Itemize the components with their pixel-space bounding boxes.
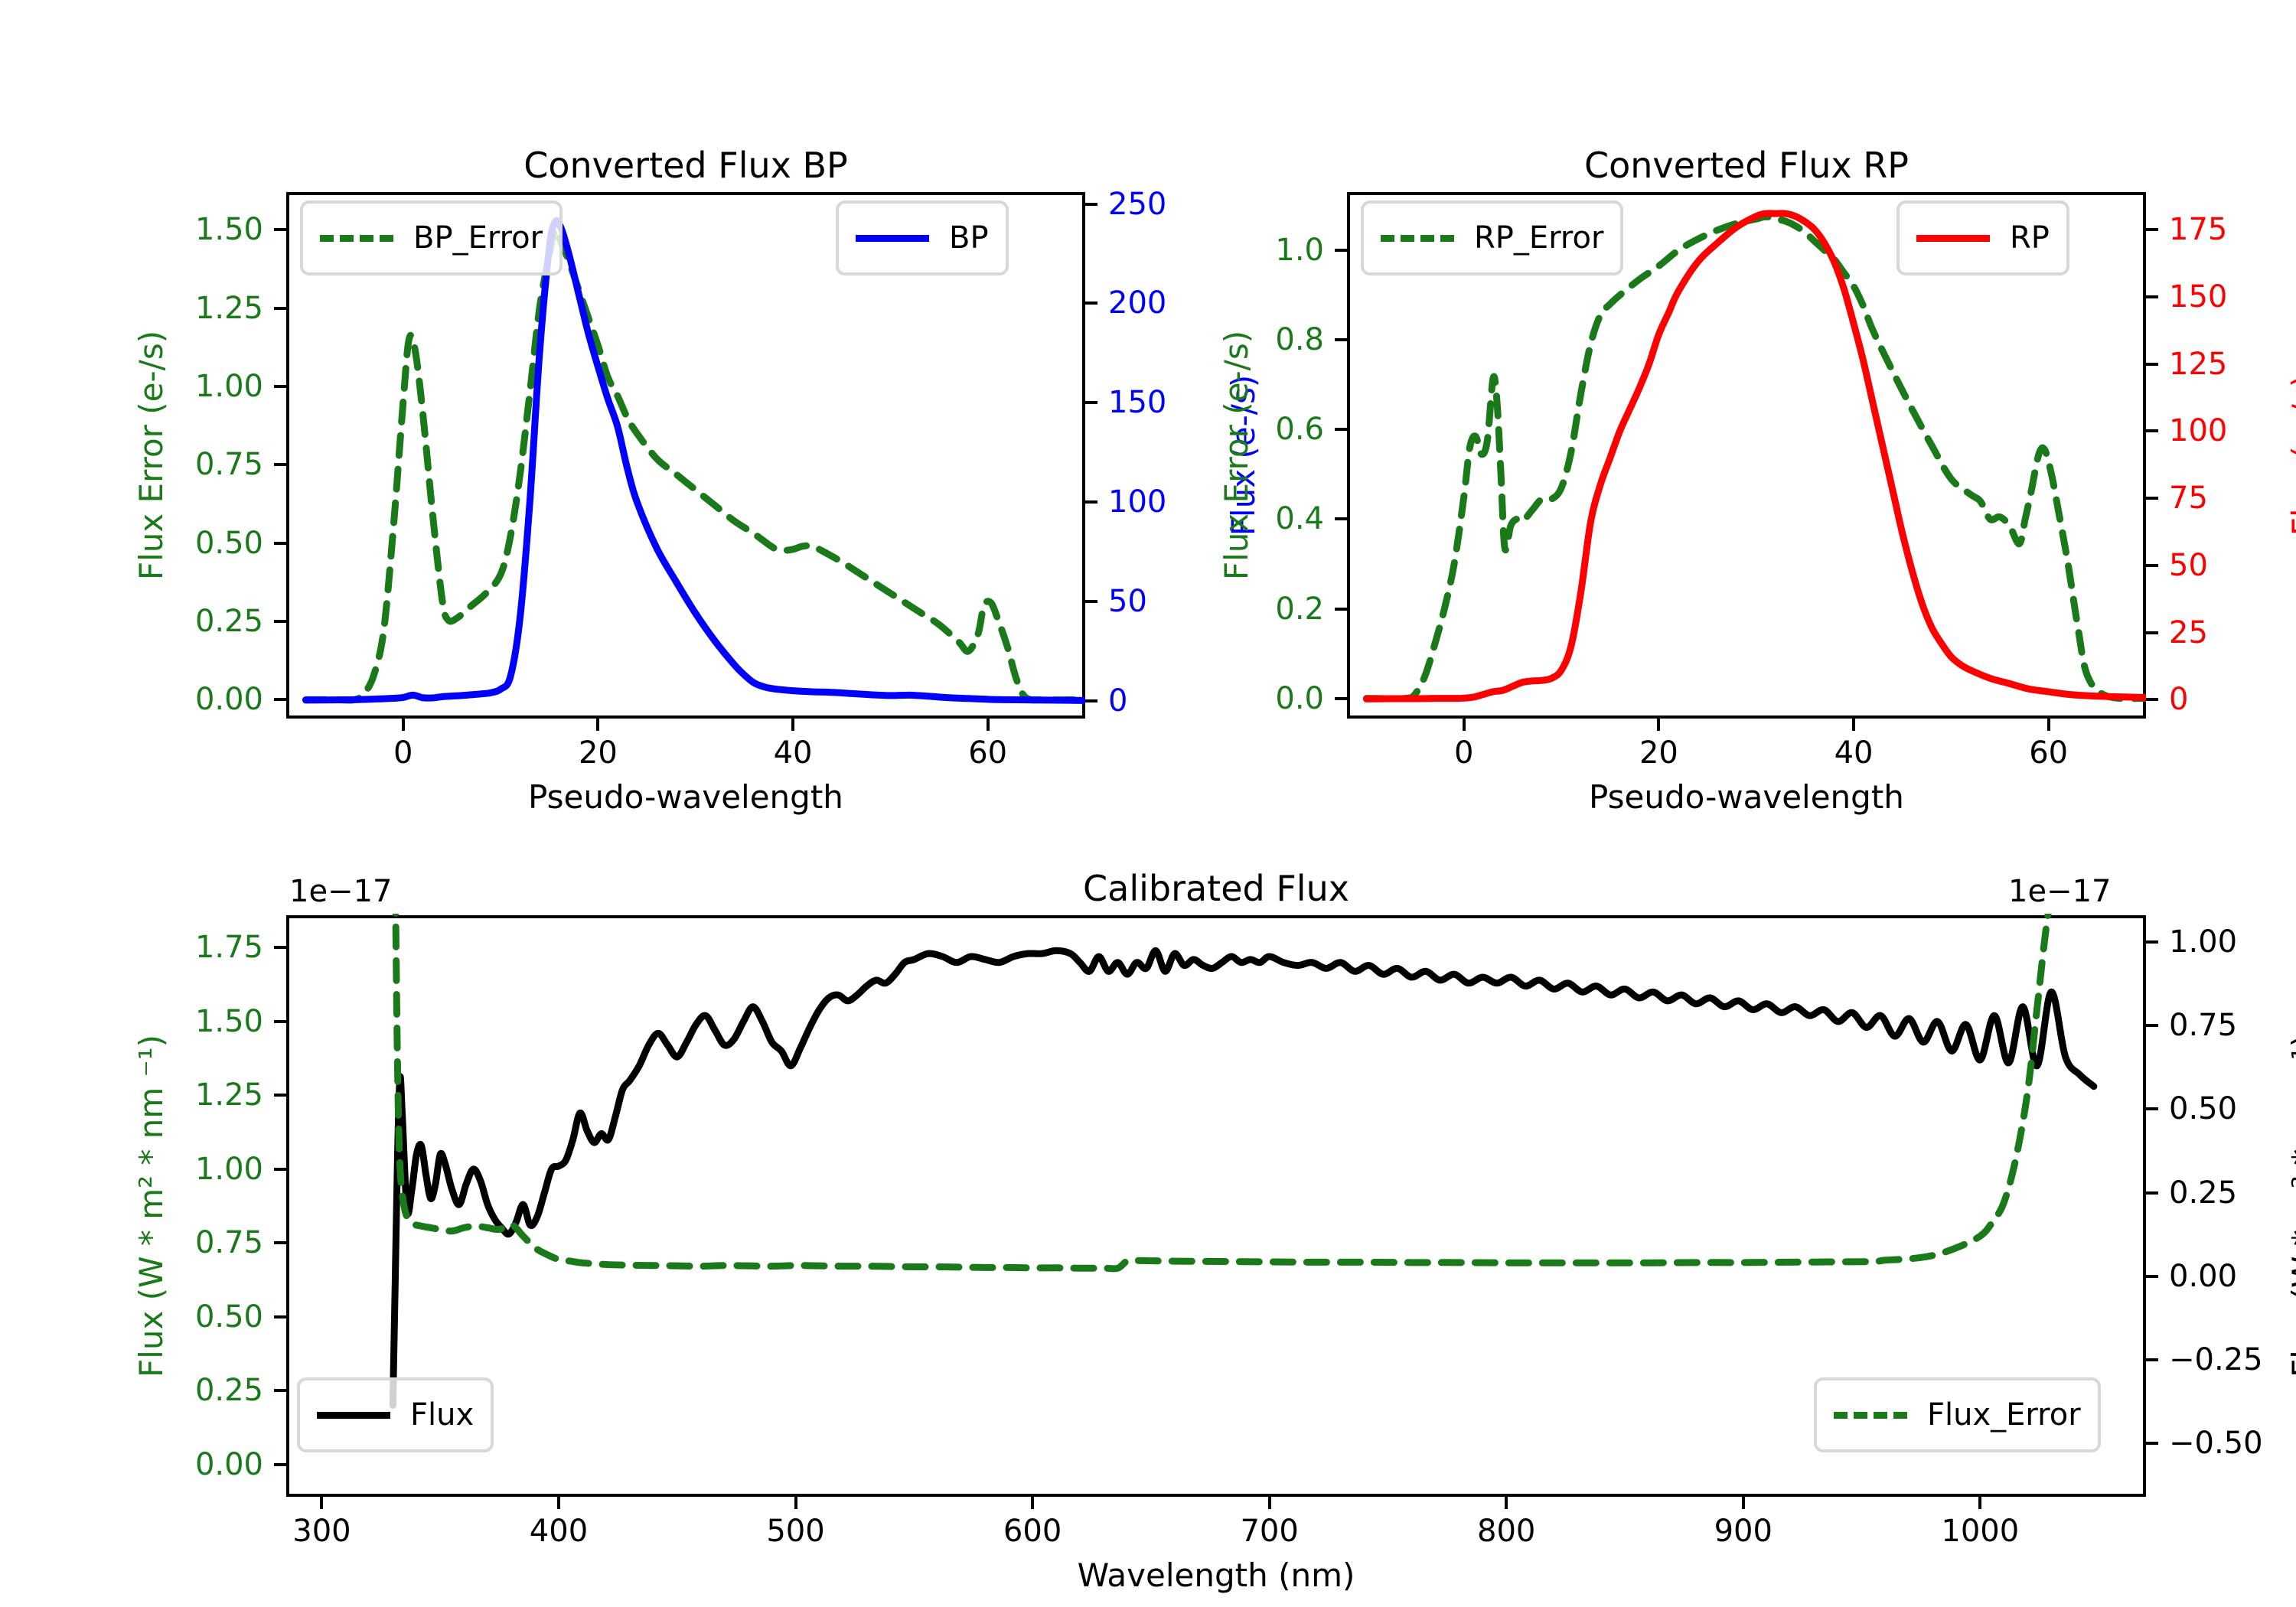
cal-panel-series-flux [393, 950, 2094, 1405]
flux-error-legend-swatch [1834, 1412, 1907, 1419]
flux-legend[interactable]: Flux [297, 1377, 494, 1452]
cal-panel-series-flux-error [393, 691, 2094, 1269]
flux-error-legend[interactable]: Flux_Error [1814, 1377, 2101, 1452]
cal-panel: Calibrated FluxWavelength (nm)3004005006… [0, 0, 2296, 1607]
flux-legend-label: Flux [410, 1397, 474, 1433]
flux-legend-swatch [317, 1412, 390, 1419]
flux-error-legend-label: Flux_Error [1927, 1397, 2081, 1433]
cal-panel-curves [0, 0, 2296, 1607]
figure-canvas: Converted Flux BPPseudo-wavelength020406… [0, 0, 2296, 1607]
